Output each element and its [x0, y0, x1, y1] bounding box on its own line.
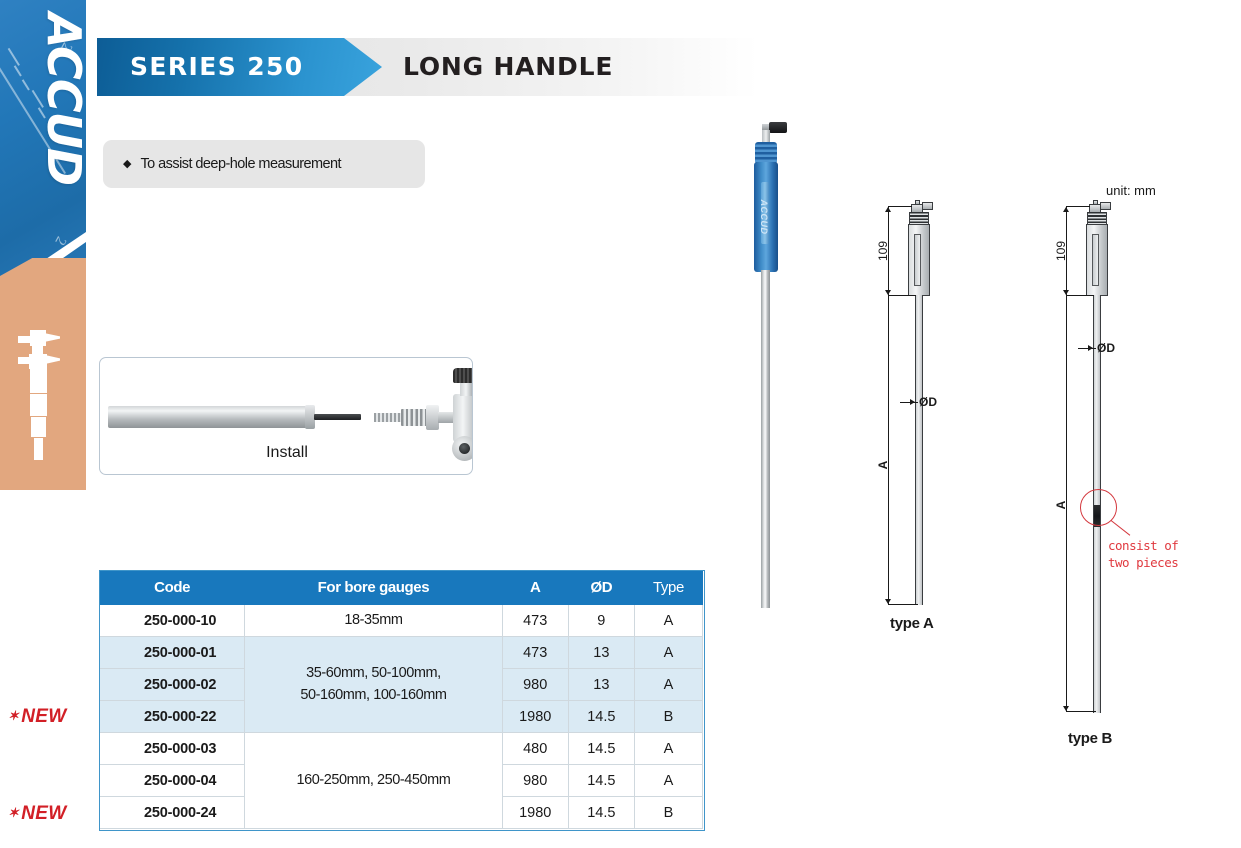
b-dim-a-line: [1066, 206, 1067, 712]
table-row: 250-000-03 160-250mm, 250-450mm 480 14.5…: [100, 733, 703, 765]
b-window: [1092, 234, 1099, 286]
accud-logo: ACCUD: [37, 0, 86, 199]
cell-code: 250-000-10: [100, 605, 245, 637]
a-dim-a-arrow: [885, 599, 891, 604]
a-shaft: [915, 295, 923, 605]
cell-bore: 35-60mm, 50-100mm, 50-160mm, 100-160mm: [245, 637, 502, 733]
b-dim-od-line: [1078, 348, 1096, 349]
a-window: [914, 234, 921, 286]
tape-tick: [22, 79, 30, 90]
a-grip-ridges: [909, 212, 929, 224]
b-grip-ridges: [1087, 212, 1107, 224]
cell-diameter: 14.5: [568, 765, 634, 797]
cell-diameter: 9: [568, 605, 634, 637]
b-top-pin: [1093, 200, 1098, 205]
col-header-bore: For bore gauges: [245, 571, 502, 605]
cell-type: A: [634, 637, 702, 669]
product-photo: ACCUD: [745, 120, 795, 610]
cell-type: A: [634, 765, 702, 797]
new-badge: ✶NEW: [8, 803, 66, 825]
b-dim-109-ext-top: [1066, 206, 1090, 207]
a-dim-a-label: A: [876, 453, 890, 477]
b-dim-109-ext-bot: [1066, 295, 1094, 296]
cell-code: 250-000-02: [100, 669, 245, 701]
assembly-gap: [361, 415, 375, 419]
b-dim-od-arrow: [1088, 345, 1093, 351]
cell-bore-line1: 35-60mm, 50-100mm,: [245, 663, 501, 684]
callout-line-1: consist of: [1108, 538, 1178, 555]
cell-code: 250-000-04: [100, 765, 245, 797]
a-dim-109-ext-bot: [888, 295, 916, 296]
cell-diameter: 14.5: [568, 733, 634, 765]
col-header-type: Type: [634, 571, 702, 605]
caliper-icon: [16, 330, 62, 470]
drawing-type-b: unit: mm 109 A ØD consist of two pieces: [1048, 200, 1208, 750]
install-photo: Install: [99, 357, 473, 475]
cell-code: 250-000-24: [100, 797, 245, 829]
photo-brand-text: ACCUD: [759, 185, 769, 249]
sidebar-tape-background: 2 2 4 ACCUD: [0, 0, 86, 300]
drawing-type-a: 109 A ØD type A: [870, 200, 1000, 630]
rod-pin: [314, 414, 361, 420]
b-dim-a-label: A: [1054, 493, 1068, 517]
unit-label: unit: mm: [1106, 183, 1156, 198]
cell-a: 480: [502, 733, 568, 765]
cell-code: 250-000-01: [100, 637, 245, 669]
cell-code: 250-000-03: [100, 733, 245, 765]
cell-type: A: [634, 605, 702, 637]
cell-diameter: 14.5: [568, 701, 634, 733]
new-badge-label: NEW: [21, 803, 66, 824]
b-top-lever: [1100, 202, 1111, 210]
page-title: LONG HANDLE: [403, 38, 613, 96]
a-dim-a-line: [888, 206, 889, 605]
tape-tick: [8, 48, 20, 66]
gauge-body: [453, 394, 473, 442]
knob-stem: [460, 381, 472, 396]
catalog-page: 2 2 4 ACCUD SERIES 250 LONG HANDLE: [0, 0, 1241, 848]
threaded-section: [401, 409, 427, 426]
series-label: SERIES 250: [130, 38, 304, 96]
cell-diameter: 14.5: [568, 797, 634, 829]
two-piece-callout-leader: [1111, 520, 1131, 536]
install-caption: Install: [100, 444, 473, 462]
cell-type: B: [634, 797, 702, 829]
cell-type: A: [634, 669, 702, 701]
b-dim-a-ext-bot: [1066, 711, 1096, 712]
feature-box: ◆ To assist deep-hole measurement: [103, 140, 425, 188]
photo-long-shaft: [761, 270, 770, 608]
a-dim-109-ext-top: [888, 206, 912, 207]
col-header-diameter: ØD: [568, 571, 634, 605]
diamond-bullet-icon: ◆: [123, 159, 131, 170]
col-header-a: A: [502, 571, 568, 605]
cell-a: 1980: [502, 701, 568, 733]
new-badge-label: NEW: [21, 706, 66, 727]
page-header-banner: SERIES 250 LONG HANDLE: [97, 38, 758, 96]
cell-bore: 160-250mm, 250-450mm: [245, 733, 502, 829]
knurled-knob: [453, 368, 473, 383]
cell-a: 1980: [502, 797, 568, 829]
a-dim-od-label: ØD: [919, 395, 937, 409]
cell-type: A: [634, 733, 702, 765]
table-header-row: Code For bore gauges A ØD Type: [100, 571, 703, 605]
cell-code: 250-000-22: [100, 701, 245, 733]
table-row: 250-000-01 35-60mm, 50-100mm, 50-160mm, …: [100, 637, 703, 669]
a-top-pin: [915, 200, 920, 205]
cell-a: 473: [502, 637, 568, 669]
cell-diameter: 13: [568, 637, 634, 669]
new-badge-star-icon: ✶: [8, 805, 19, 820]
tape-tick: [14, 65, 22, 76]
a-dim-a-ext-bot: [888, 604, 918, 605]
feature-text: To assist deep-hole measurement: [140, 156, 341, 172]
cell-diameter: 13: [568, 669, 634, 701]
cell-bore-line2: 50-160mm, 100-160mm: [245, 685, 501, 706]
callout-line-2: two pieces: [1108, 555, 1178, 572]
drawing-a-caption: type A: [890, 615, 934, 632]
b-dim-od-label: ØD: [1097, 341, 1115, 355]
a-top-lever: [922, 202, 933, 210]
two-piece-callout-text: consist of two pieces: [1108, 538, 1178, 572]
photo-grip-ridges: [755, 142, 777, 164]
col-header-code: Code: [100, 571, 245, 605]
cell-a: 980: [502, 669, 568, 701]
a-dim-od-line: [900, 402, 918, 403]
new-badge: ✶NEW: [8, 706, 66, 728]
b-dim-a-arrow: [1063, 706, 1069, 711]
cell-a: 473: [502, 605, 568, 637]
a-dim-od-arrow: [910, 399, 915, 405]
cell-bore: 18-35mm: [245, 605, 502, 637]
black-lever: [769, 122, 787, 133]
drawing-b-caption: type B: [1068, 730, 1112, 747]
screw-tip: [374, 413, 402, 422]
table-row: 250-000-10 18-35mm 473 9 A: [100, 605, 703, 637]
cell-type: B: [634, 701, 702, 733]
cell-a: 980: [502, 765, 568, 797]
specification-table: Code For bore gauges A ØD Type 250-000-1…: [99, 570, 703, 829]
extension-rod: [108, 406, 315, 428]
new-badge-star-icon: ✶: [8, 708, 19, 723]
